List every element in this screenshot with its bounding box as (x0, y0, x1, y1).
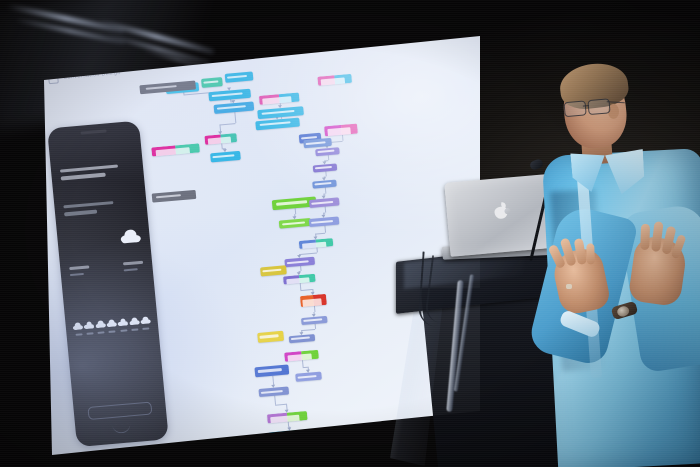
ring-icon (566, 284, 572, 289)
presenter (520, 60, 700, 467)
apple-logo-icon (494, 203, 508, 219)
conference-stage-photo: Conversation Design (0, 0, 700, 467)
